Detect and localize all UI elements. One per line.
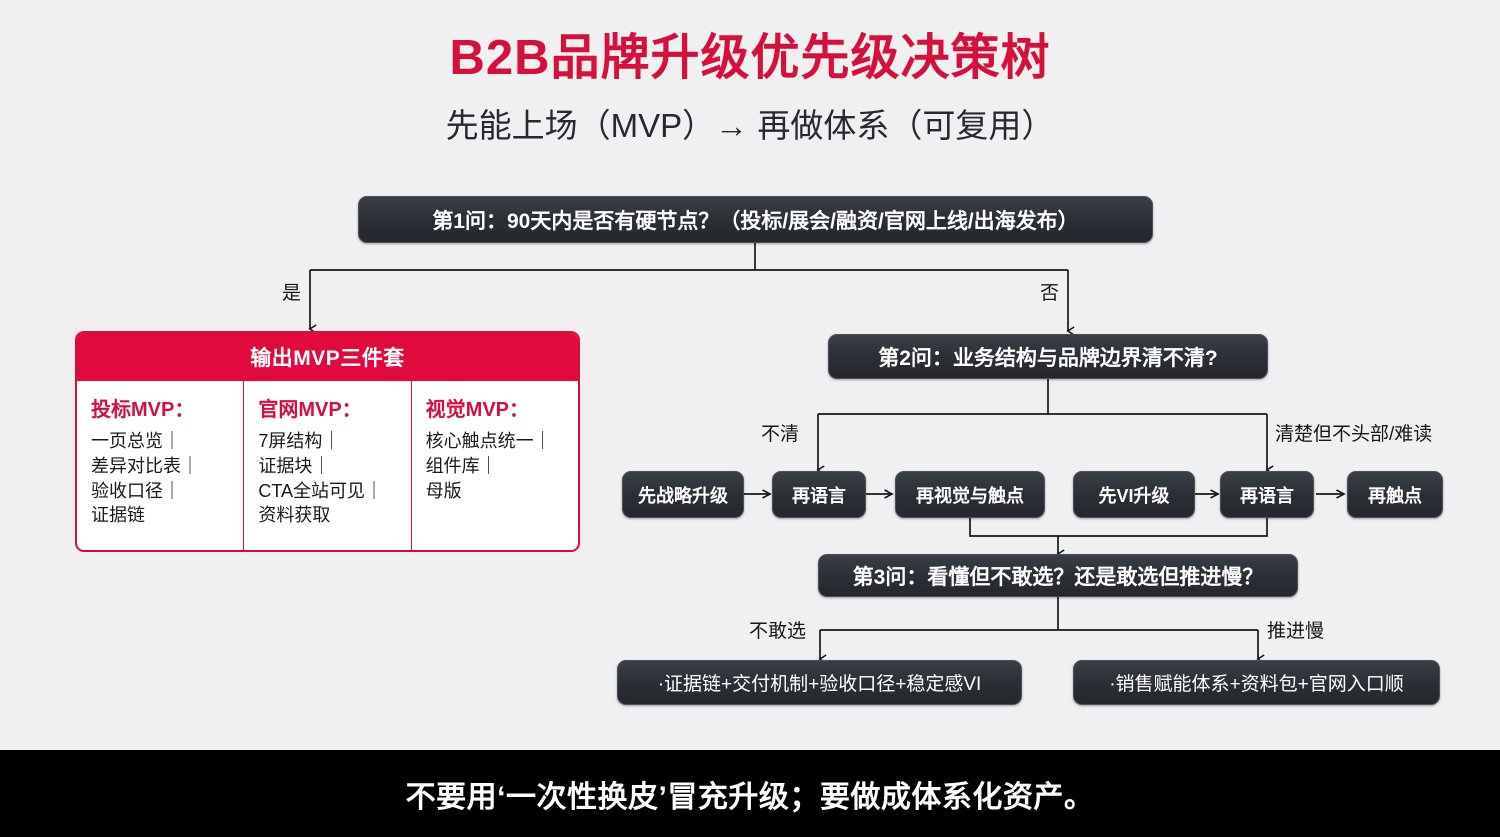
mvp-column-line: 证据链 — [91, 503, 233, 528]
mvp-card-heading: 输出MVP三件套 — [77, 333, 578, 381]
question-2-node[interactable]: 第2问：业务结构与品牌边界清不清? — [828, 334, 1268, 379]
edge-label-q1-no: 否 — [1040, 284, 1059, 303]
chain-b-step-1[interactable]: 先VI升级 — [1073, 471, 1195, 518]
page-subtitle: 先能上场（MVP）→ 再做体系（可复用） — [0, 106, 1500, 146]
chain-a-step-1[interactable]: 先战略升级 — [622, 471, 744, 518]
mvp-column-line: 差异对比表｜ — [91, 454, 233, 479]
chain-a-step-2[interactable]: 再语言 — [772, 471, 866, 518]
mvp-column-title: 视觉MVP： — [426, 393, 568, 422]
page-title: B2B品牌升级优先级决策树 — [0, 32, 1500, 86]
edge-label-q1-yes: 是 — [282, 284, 301, 303]
mvp-column-line: CTA全站可见｜ — [258, 479, 400, 504]
chain-b-step-3[interactable]: 再触点 — [1347, 471, 1443, 518]
chain-a-step-3[interactable]: 再视觉与触点 — [895, 471, 1045, 518]
mvp-column-line: 核心触点统一｜ — [426, 429, 568, 454]
outcome-right-node[interactable]: ·销售赋能体系+资料包+官网入口顺 — [1073, 660, 1440, 705]
footer-text: 不要用‘一次性换皮’冒充升级；要做成体系化资产。 — [406, 772, 1095, 816]
mvp-column-line: 资料获取 — [258, 503, 400, 528]
mvp-column-visual: 视觉MVP： 核心触点统一｜ 组件库｜ 母版 — [412, 381, 578, 552]
mvp-column-bid: 投标MVP： 一页总览｜ 差异对比表｜ 验收口径｜ 证据链 — [77, 381, 244, 552]
mvp-column-line: 验收口径｜ — [91, 479, 233, 504]
mvp-column-title: 官网MVP： — [258, 393, 400, 422]
mvp-column-website: 官网MVP： 7屏结构｜ 证据块｜ CTA全站可见｜ 资料获取 — [244, 381, 411, 552]
mvp-output-card[interactable]: 输出MVP三件套 投标MVP： 一页总览｜ 差异对比表｜ 验收口径｜ 证据链 官… — [75, 331, 580, 552]
footer-bar: 不要用‘一次性换皮’冒充升级；要做成体系化资产。 — [0, 750, 1500, 837]
mvp-column-line: 证据块｜ — [258, 454, 400, 479]
edge-label-q3-left: 不敢选 — [749, 622, 806, 641]
question-3-node[interactable]: 第3问：看懂但不敢选？还是敢选但推进慢？ — [818, 554, 1298, 597]
mvp-column-line: 母版 — [426, 479, 568, 504]
mvp-card-body: 投标MVP： 一页总览｜ 差异对比表｜ 验收口径｜ 证据链 官网MVP： 7屏结… — [77, 381, 578, 552]
question-1-node[interactable]: 第1问：90天内是否有硬节点？（投标/展会/融资/官网上线/出海发布） — [358, 196, 1153, 243]
decision-tree-canvas: B2B品牌升级优先级决策树 先能上场（MVP）→ 再做体系（可复用） — [0, 0, 1500, 837]
edge-label-q3-right: 推进慢 — [1267, 622, 1324, 641]
edge-label-q2-right: 清楚但不头部/难读 — [1275, 425, 1432, 444]
mvp-column-line: 7屏结构｜ — [258, 429, 400, 454]
mvp-column-line: 组件库｜ — [426, 454, 568, 479]
edge-label-q2-left: 不清 — [761, 425, 799, 444]
outcome-left-node[interactable]: ·证据链+交付机制+验收口径+稳定感VI — [617, 660, 1022, 705]
mvp-column-title: 投标MVP： — [91, 393, 233, 422]
chain-b-step-2[interactable]: 再语言 — [1220, 471, 1314, 518]
mvp-column-line: 一页总览｜ — [91, 429, 233, 454]
